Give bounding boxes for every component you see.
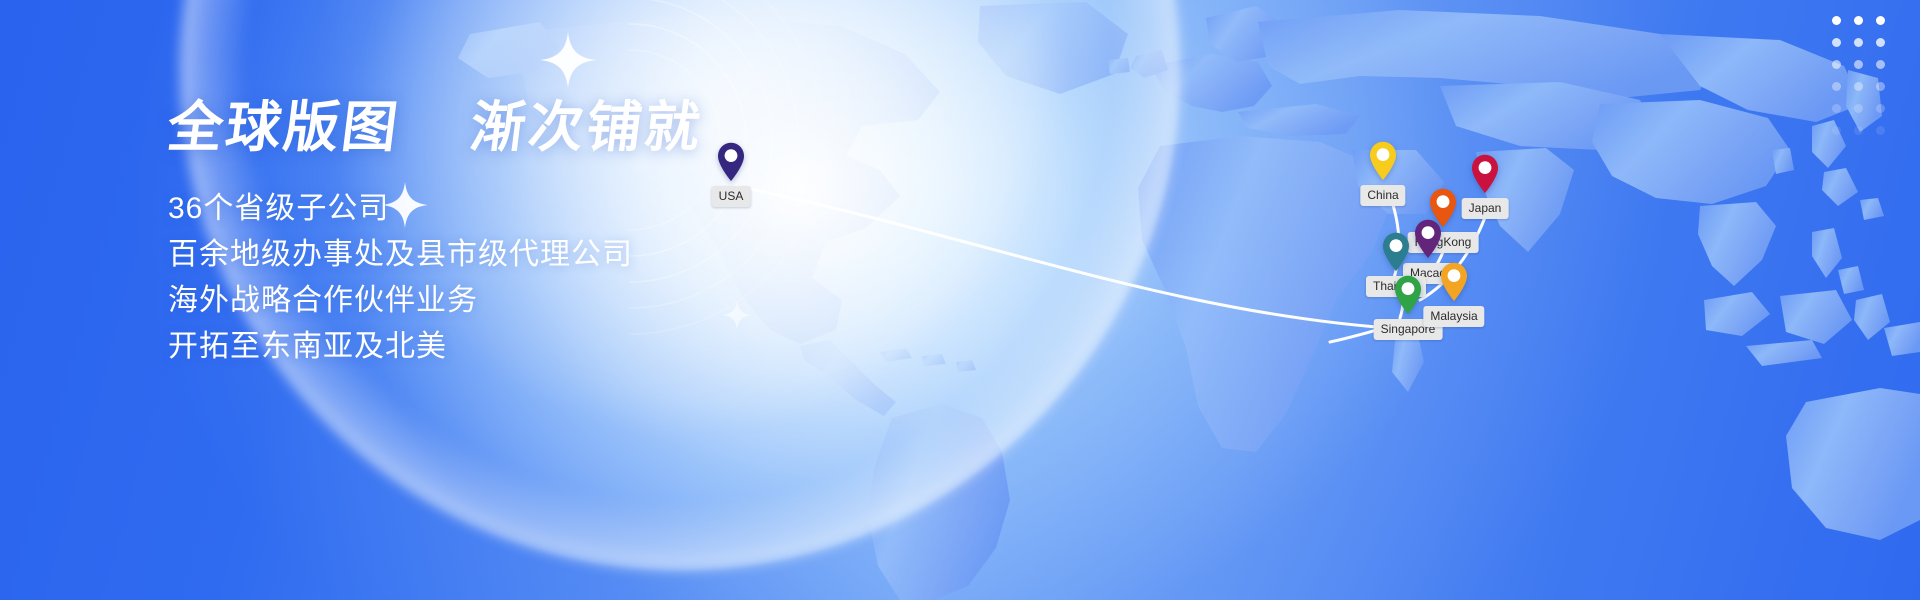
location-pin-icon [1439,262,1469,302]
subcopy-line-1: 36个省级子公司 [168,186,928,232]
map-pin-label: China [1360,185,1405,206]
subcopy-line-4: 开拓至东南亚及北美 [168,324,928,370]
page-title: 全球版图 渐次铺就 [164,96,932,160]
subcopy-line-2: 百余地级办事处及县市级代理公司 [168,232,928,278]
location-pin-icon [1393,275,1423,315]
global-map-banner: 全球版图 渐次铺就 36个省级子公司 百余地级办事处及县市级代理公司 海外战略合… [0,0,1920,600]
map-pin-label: Malaysia [1423,306,1484,327]
map-pin-label: Japan [1462,198,1509,219]
headline-left: 全球版图 [164,96,404,158]
subcopy-list: 36个省级子公司 百余地级办事处及县市级代理公司 海外战略合作伙伴业务 开拓至东… [168,186,928,370]
location-pin-icon [1368,141,1398,181]
map-pin-label: USA [712,186,751,207]
location-pin-icon [1413,219,1443,259]
location-pin-icon [1381,232,1411,272]
subcopy-line-3: 海外战略合作伙伴业务 [168,278,928,324]
location-pin-icon [1470,154,1500,194]
dot-grid-decoration [1826,10,1892,142]
copy-block: 全球版图 渐次铺就 36个省级子公司 百余地级办事处及县市级代理公司 海外战略合… [168,96,928,370]
headline-right: 渐次铺就 [467,96,707,158]
location-pin-icon [716,142,746,182]
